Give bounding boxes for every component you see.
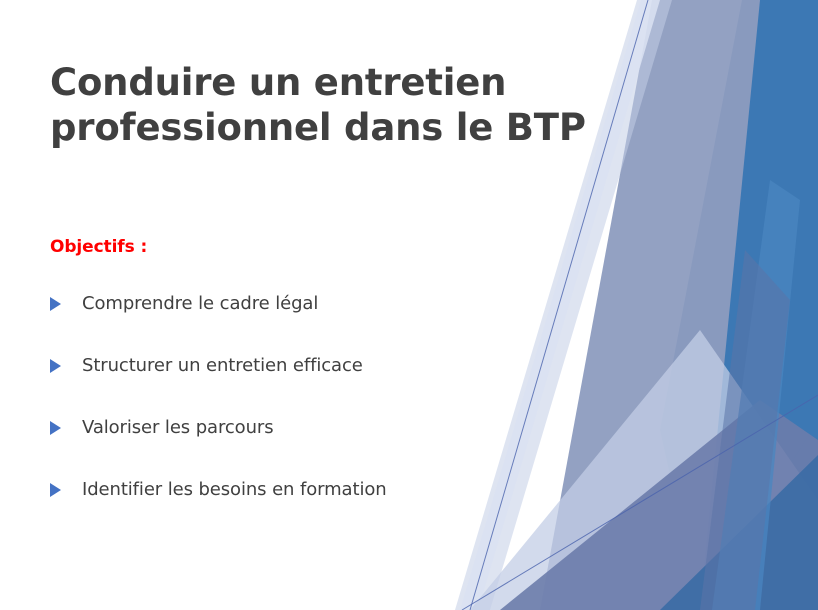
title-block: Conduire un entretien professionnel dans…	[50, 60, 590, 150]
list-item-label: Structurer un entretien efficace	[82, 354, 363, 378]
triangle-bullet-icon	[50, 483, 61, 497]
objectives-bullet-list: Comprendre le cadre légal Structurer un …	[50, 289, 590, 537]
slide-content: Conduire un entretien professionnel dans…	[0, 0, 620, 610]
triangle-bullet-icon	[50, 297, 61, 311]
decor-shape-bottom-right-deep-blue	[660, 455, 818, 610]
decor-shape-steel-blue-column	[712, 180, 800, 610]
triangle-bullet-icon	[50, 359, 61, 373]
decor-shape-upper-blue-wedge	[660, 0, 818, 610]
triangle-bullet-icon	[50, 421, 61, 435]
list-item: Structurer un entretien efficace	[50, 351, 590, 381]
list-item-label: Valoriser les parcours	[82, 416, 273, 440]
presentation-slide: Conduire un entretien professionnel dans…	[0, 0, 818, 610]
list-item-label: Identifier les besoins en formation	[82, 478, 387, 502]
list-item: Comprendre le cadre légal	[50, 289, 590, 319]
list-item: Valoriser les parcours	[50, 413, 590, 443]
decor-shape-shadow-wedge	[700, 250, 790, 610]
objectives-label: Objectifs :	[50, 237, 147, 257]
list-item-label: Comprendre le cadre légal	[82, 292, 318, 316]
decor-shape-bright-blue-field	[700, 0, 818, 610]
list-item: Identifier les besoins en formation	[50, 475, 590, 505]
page-title: Conduire un entretien professionnel dans…	[50, 60, 590, 150]
